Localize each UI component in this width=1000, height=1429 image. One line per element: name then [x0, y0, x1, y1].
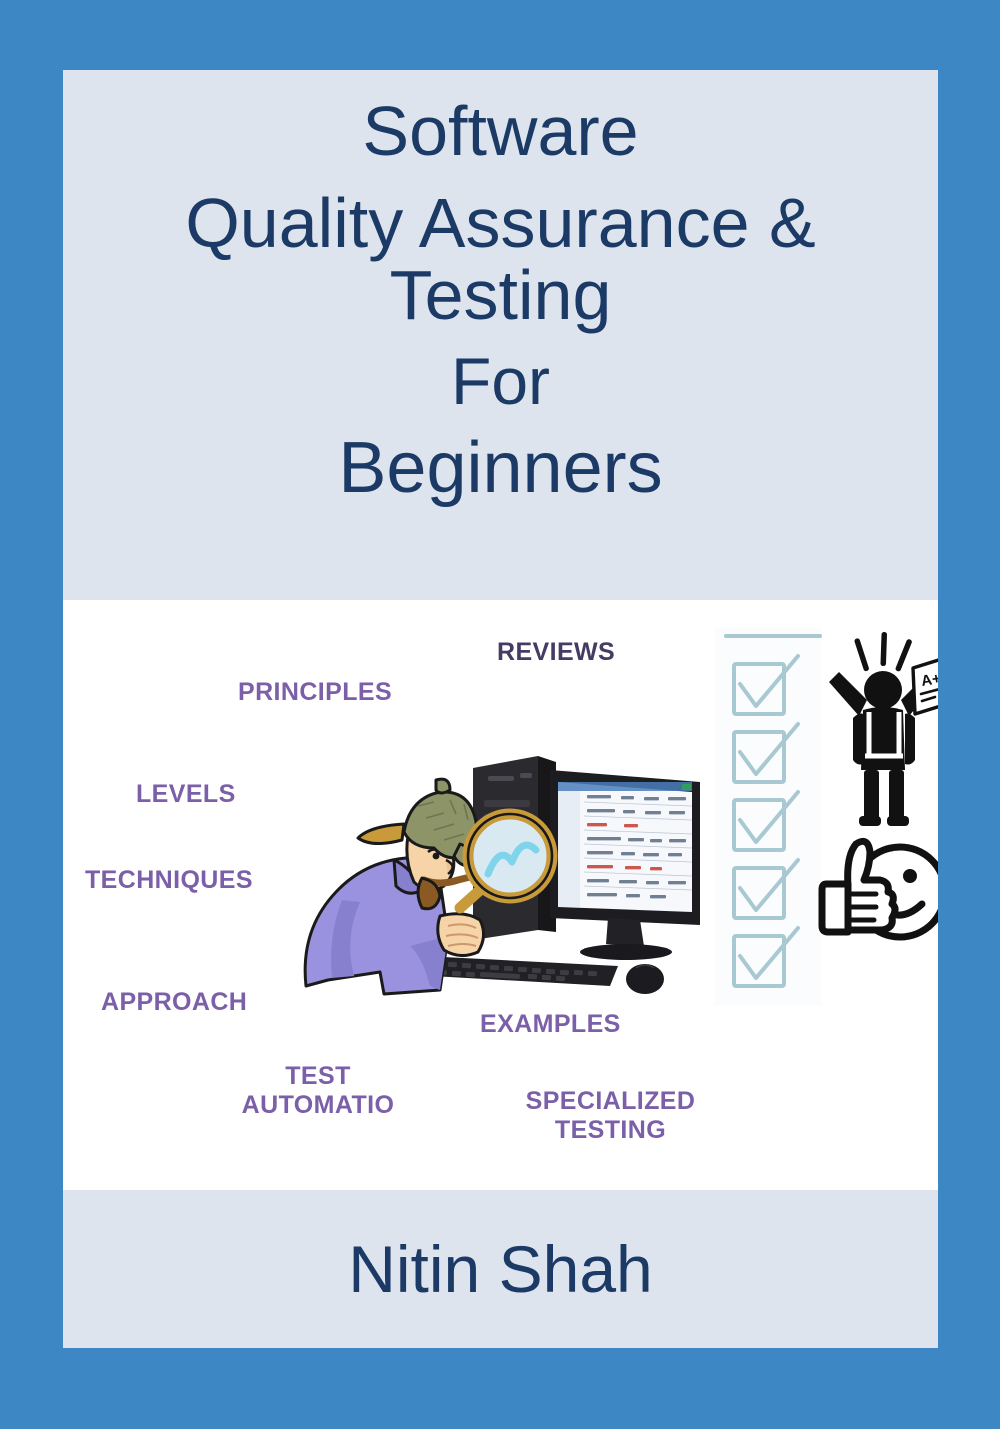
keyword-label-approach: APPROACH	[101, 988, 247, 1017]
book-title-line-1: Software	[362, 96, 638, 166]
thumbs-up-smiley-icon	[818, 828, 938, 953]
author-name: Nitin Shah	[348, 1236, 653, 1302]
keyword-label-techniques: TECHNIQUES	[85, 866, 253, 895]
celebrating-student-icon: A+	[823, 630, 938, 830]
book-title-line-5: Beginners	[338, 432, 662, 504]
book-cover: Software Quality Assurance & Testing For…	[0, 0, 1000, 1429]
keyword-label-levels: LEVELS	[136, 780, 236, 809]
svg-text:A+: A+	[920, 670, 938, 690]
computer-monitor-icon	[550, 770, 700, 960]
keyword-label-principles: PRINCIPLES	[238, 678, 392, 707]
detective-computer-illustration	[288, 740, 718, 1010]
keyword-label-examples: EXAMPLES	[480, 1010, 621, 1039]
keyword-label-specialized-testing: SPECIALIZED TESTING	[503, 1087, 718, 1144]
keyword-label-reviews: REVIEWS	[497, 638, 615, 667]
cover-inner-card: Software Quality Assurance & Testing For…	[63, 70, 938, 1348]
title-panel: Software Quality Assurance & Testing For…	[63, 70, 938, 600]
book-title-line-2: Quality Assurance &	[185, 188, 815, 258]
author-panel: Nitin Shah	[63, 1190, 938, 1348]
illustration-panel: REVIEWS PRINCIPLES LEVELS TECHNIQUES APP…	[63, 600, 938, 1190]
a-plus-paper-icon: A+	[913, 658, 938, 714]
checklist-icon	[708, 620, 828, 1010]
book-title-line-4: For	[451, 348, 550, 414]
book-title-line-3: Testing	[390, 260, 612, 330]
computer-mouse-icon	[626, 964, 664, 994]
keyword-label-test-automation: TEST AUTOMATIO	[218, 1062, 418, 1119]
